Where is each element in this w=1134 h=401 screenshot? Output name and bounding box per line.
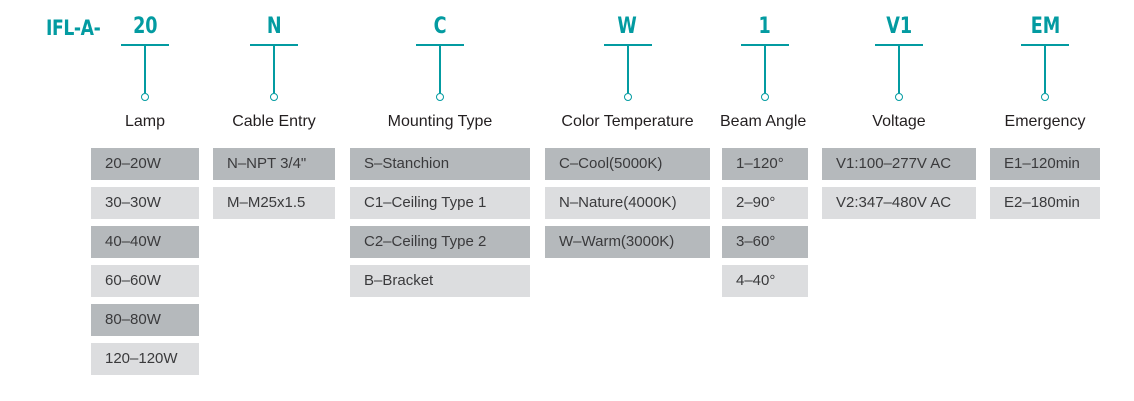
code-token-lamp: 20 [91,14,199,40]
connector-color-temperature [545,44,710,102]
code-token-mounting-type-text: C [434,14,447,40]
connector-stem-icon [439,46,441,93]
code-token-emergency: EM [990,14,1100,40]
connector-circle-icon [436,93,444,101]
option-row[interactable]: 3–60° [722,226,808,258]
option-list-lamp: 20–20W 30–30W 40–40W 60–60W 80–80W 120–1… [91,148,199,382]
option-row[interactable]: N–Nature(4000K) [545,187,710,219]
connector-circle-icon [761,93,769,101]
connector-circle-icon [1041,93,1049,101]
connector-stem-icon [898,46,900,93]
category-label-beam-angle: Beam Angle [720,112,806,132]
code-token-beam-angle-text: 1 [759,14,771,40]
option-list-beam-angle: 1–120° 2–90° 3–60° 4–40° [722,148,808,304]
connector-beam-angle [722,44,808,102]
option-row[interactable]: N–NPT 3/4" [213,148,335,180]
category-label-voltage: Voltage [822,112,976,132]
option-row[interactable]: 80–80W [91,304,199,336]
option-row[interactable]: V1:100–277V AC [822,148,976,180]
connector-mounting-type [350,44,530,102]
code-token-cable-entry: N [213,14,335,40]
option-row[interactable]: C1–Ceiling Type 1 [350,187,530,219]
option-list-voltage: V1:100–277V AC V2:347–480V AC [822,148,976,226]
code-token-voltage-text: V1 [886,14,912,40]
connector-circle-icon [624,93,632,101]
option-row[interactable]: 60–60W [91,265,199,297]
connector-circle-icon [270,93,278,101]
code-token-lamp-text: 20 [133,14,158,40]
connector-stem-icon [764,46,766,93]
option-row[interactable]: C–Cool(5000K) [545,148,710,180]
option-row[interactable]: 4–40° [722,265,808,297]
option-row[interactable]: W–Warm(3000K) [545,226,710,258]
code-token-cable-entry-text: N [267,14,282,40]
category-label-mounting-type: Mounting Type [350,112,530,132]
connector-stem-icon [627,46,629,93]
option-list-mounting-type: S–Stanchion C1–Ceiling Type 1 C2–Ceiling… [350,148,530,304]
connector-emergency [990,44,1100,102]
option-row[interactable]: C2–Ceiling Type 2 [350,226,530,258]
code-token-beam-angle: 1 [722,14,808,40]
option-row[interactable]: B–Bracket [350,265,530,297]
option-row[interactable]: 1–120° [722,148,808,180]
connector-voltage [822,44,976,102]
connector-stem-icon [273,46,275,93]
connector-stem-icon [144,46,146,93]
option-row[interactable]: 20–20W [91,148,199,180]
code-token-color-temperature-text: W [618,14,637,40]
code-token-color-temperature: W [545,14,710,40]
option-row[interactable]: M–M25x1.5 [213,187,335,219]
connector-circle-icon [141,93,149,101]
connector-circle-icon [895,93,903,101]
category-label-color-temperature: Color Temperature [545,112,710,132]
option-row[interactable]: 40–40W [91,226,199,258]
option-row[interactable]: 2–90° [722,187,808,219]
category-label-lamp: Lamp [91,112,199,132]
option-row[interactable]: 120–120W [91,343,199,375]
option-row[interactable]: 30–30W [91,187,199,219]
option-row[interactable]: V2:347–480V AC [822,187,976,219]
code-token-emergency-text: EM [1030,14,1060,40]
connector-lamp [91,44,199,102]
option-row[interactable]: S–Stanchion [350,148,530,180]
connector-stem-icon [1044,46,1046,93]
product-code-ordering-diagram: IFL-A- 20 Lamp 20–20W 30–30W 40–40W 60–6… [0,0,1134,401]
connector-cable-entry [213,44,335,102]
option-list-color-temperature: C–Cool(5000K) N–Nature(4000K) W–Warm(300… [545,148,710,265]
option-row[interactable]: E1–120min [990,148,1100,180]
code-token-voltage: V1 [822,14,976,40]
option-list-cable-entry: N–NPT 3/4" M–M25x1.5 [213,148,335,226]
option-row[interactable]: E2–180min [990,187,1100,219]
category-label-cable-entry: Cable Entry [213,112,335,132]
option-list-emergency: E1–120min E2–180min [990,148,1100,226]
code-token-mounting-type: C [350,14,530,40]
category-label-emergency: Emergency [990,112,1100,132]
